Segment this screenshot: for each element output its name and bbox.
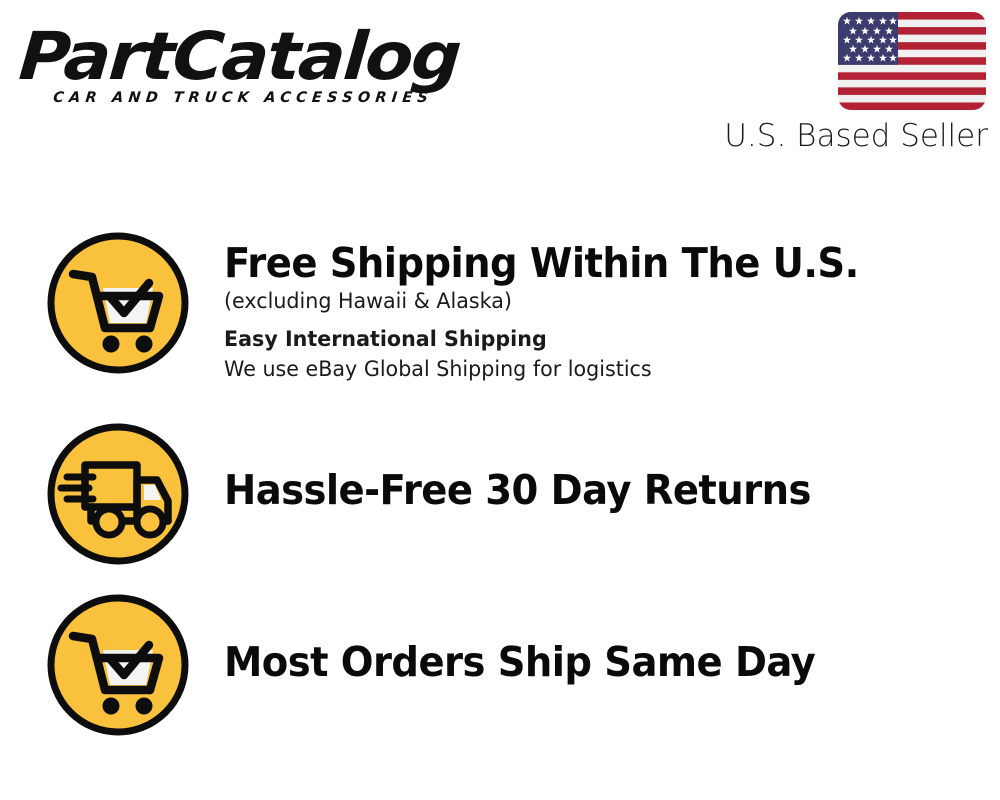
feature-text-block: Free Shipping Within The U.S. (excluding… — [224, 239, 984, 385]
feature-heading: Hassle-Free 30 Day Returns — [224, 466, 938, 514]
feature-heading: Free Shipping Within The U.S. — [224, 239, 938, 287]
feature-heading: Most Orders Ship Same Day — [224, 638, 938, 686]
shopping-cart-check-icon — [45, 230, 191, 376]
shopping-cart-check-icon — [45, 592, 191, 738]
us-flag-icon — [838, 12, 986, 110]
feature-subtext-international: Easy International Shipping — [224, 325, 954, 355]
feature-text-block: Hassle-Free 30 Day Returns — [224, 466, 984, 514]
feature-subtext-logistics: We use eBay Global Shipping for logistic… — [224, 355, 954, 385]
brand-wordmark: PartCatalog — [17, 22, 520, 92]
brand-logo[interactable]: PartCatalog CAR AND TRUCK ACCESSORIES — [22, 22, 492, 122]
delivery-truck-icon — [45, 421, 191, 567]
feature-subtext-exclusions: (excluding Hawaii & Alaska) — [224, 287, 954, 317]
us-based-seller-label: U.S. Based Seller — [716, 117, 988, 155]
brand-tagline: CAR AND TRUCK ACCESSORIES — [52, 90, 492, 106]
feature-text-block: Most Orders Ship Same Day — [224, 638, 984, 686]
